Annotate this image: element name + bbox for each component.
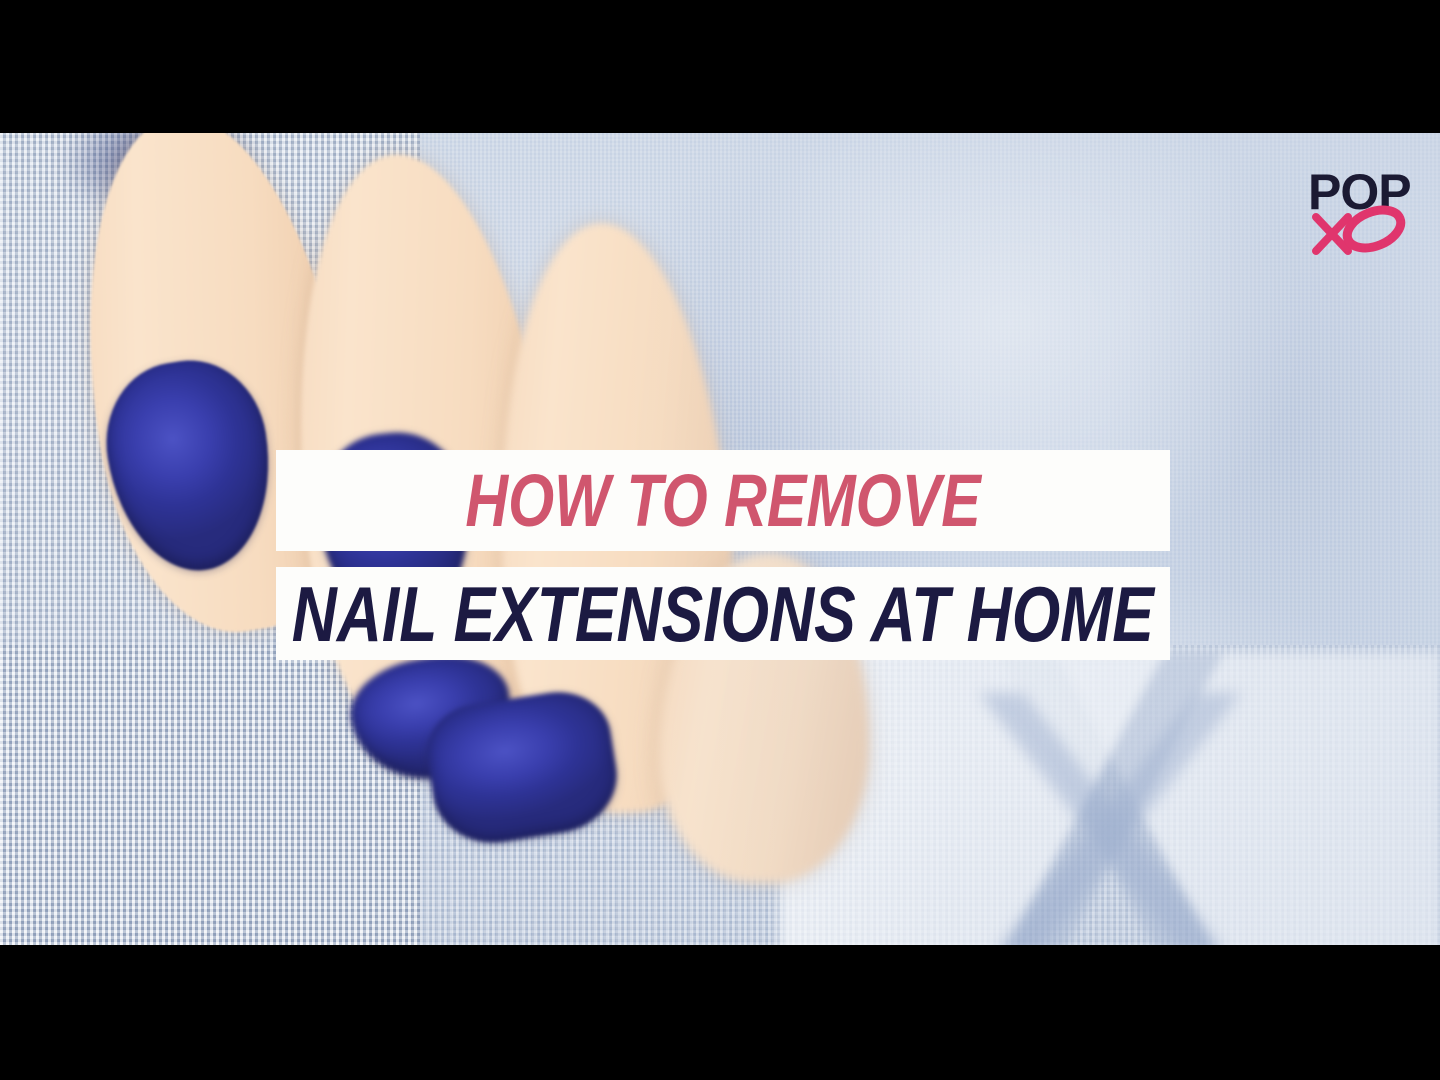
caption-box-line2: NAIL EXTENSIONS AT HOME (276, 567, 1170, 660)
video-thumbnail-stage: POP HOW TO REMOVE NAIL EXTENSIONS AT HOM… (0, 0, 1440, 1080)
caption-line2-text: NAIL EXTENSIONS AT HOME (292, 575, 1154, 653)
video-frame: POP HOW TO REMOVE NAIL EXTENSIONS AT HOM… (0, 133, 1440, 945)
letterbox-bar-bottom (0, 945, 1440, 1080)
caption-box-line1: HOW TO REMOVE (276, 450, 1170, 551)
letterbox-bar-top (0, 0, 1440, 133)
popxo-logo[interactable]: POP (1302, 155, 1410, 267)
caption-line1-text: HOW TO REMOVE (465, 464, 980, 538)
